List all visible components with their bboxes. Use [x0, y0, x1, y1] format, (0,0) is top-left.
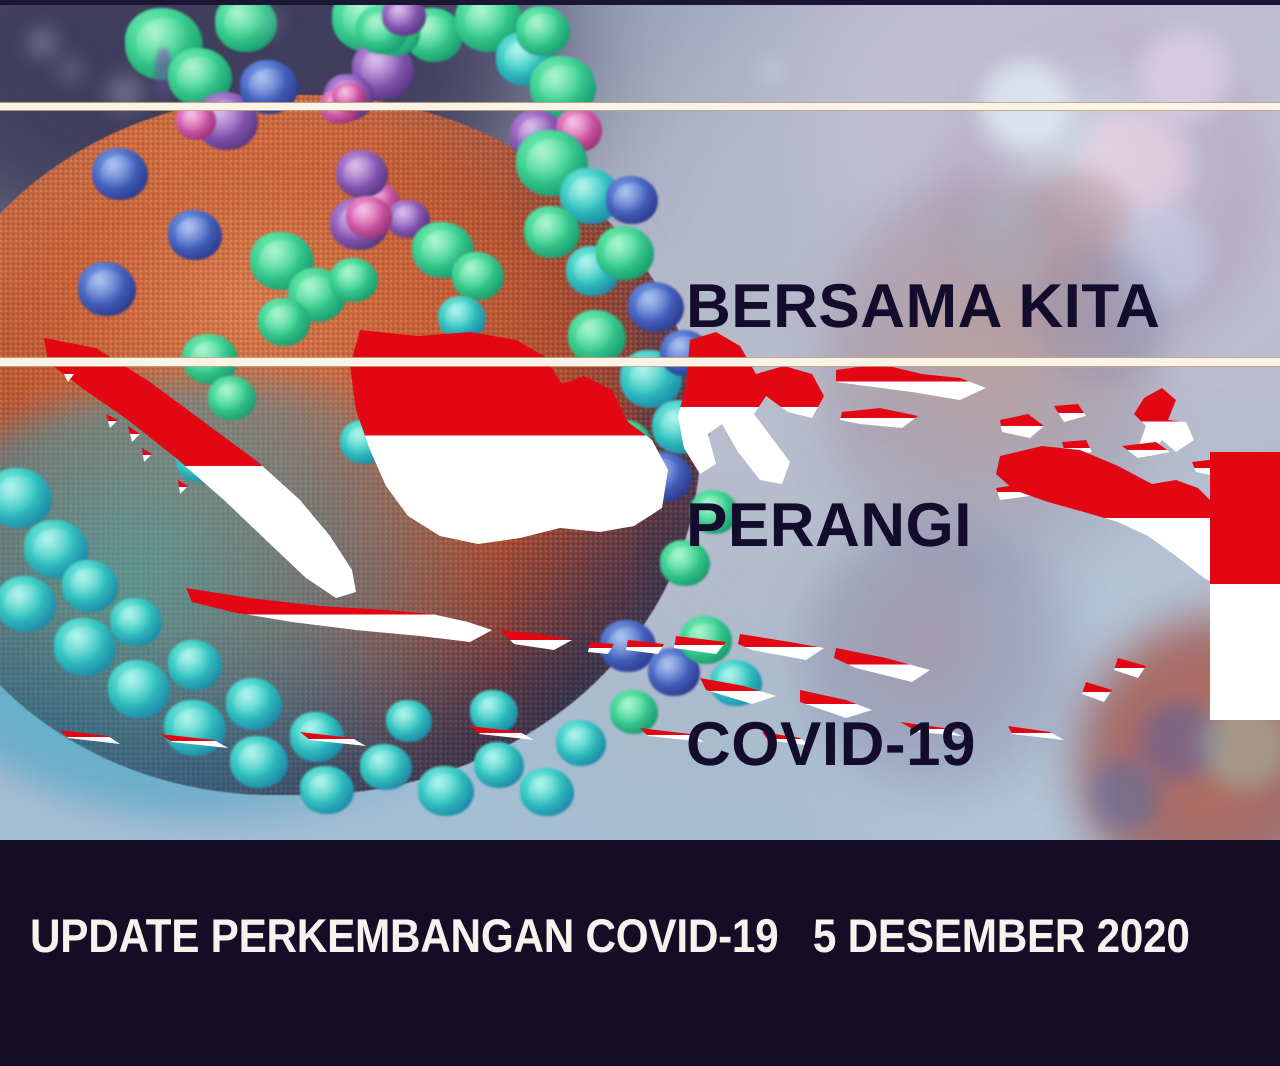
spike-protein [168, 210, 222, 260]
spike-protein [596, 226, 654, 280]
spike-protein [520, 768, 574, 816]
covid-update-poster: BERSAMA KITA PERANGI COVID-19 UPDATE PER… [0, 0, 1280, 1066]
spike-protein [418, 766, 474, 816]
spike-protein [516, 6, 570, 56]
spike-protein [628, 282, 684, 332]
spike-protein [360, 744, 412, 790]
spike-protein [78, 262, 136, 316]
spike-protein [346, 196, 392, 238]
spike-protein [382, 0, 426, 36]
spike-protein [452, 252, 504, 300]
headline-line-3: COVID-19 [686, 708, 1160, 781]
spike-protein [336, 150, 388, 198]
spike-protein [330, 258, 378, 302]
spike-protein [524, 206, 580, 258]
spike-protein [300, 766, 354, 814]
banner-text: UPDATE PERKEMBANGAN COVID-19 5 DESEMBER … [30, 908, 1190, 964]
headline-line-2: PERANGI [686, 489, 1160, 562]
headline-line-1: BERSAMA KITA [686, 270, 1160, 343]
spike-protein [606, 176, 658, 224]
headline: BERSAMA KITA PERANGI COVID-19 [686, 124, 1160, 840]
particle-speck [260, 14, 276, 30]
hero-photo: BERSAMA KITA PERANGI COVID-19 [0, 0, 1280, 840]
particle-speck [30, 30, 56, 56]
particle-speck [760, 60, 782, 82]
divider-rule-top [0, 103, 1280, 110]
top-edge-strip [0, 0, 1280, 5]
spike-protein [92, 148, 148, 200]
particle-speck [60, 60, 80, 80]
